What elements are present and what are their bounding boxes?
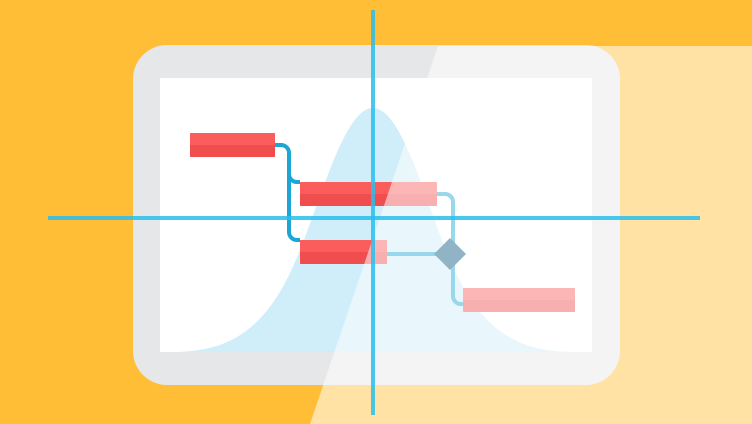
bar-highlight: [190, 133, 275, 145]
bar-body: [300, 194, 437, 206]
bar-body: [190, 145, 275, 157]
guide-line-vertical[interactable]: [371, 10, 375, 415]
guide-line-horizontal[interactable]: [48, 216, 700, 220]
tablet-screen: [160, 78, 592, 352]
gantt-bar-task-1[interactable]: [190, 133, 275, 157]
milestone-diamond-icon[interactable]: [434, 238, 466, 270]
bar-highlight: [300, 182, 437, 194]
bar-body: [463, 300, 575, 312]
gantt-bar-task-2[interactable]: [300, 182, 437, 206]
illustration-canvas: [0, 0, 752, 424]
gantt-bar-task-4[interactable]: [463, 288, 575, 312]
bar-highlight: [463, 288, 575, 300]
